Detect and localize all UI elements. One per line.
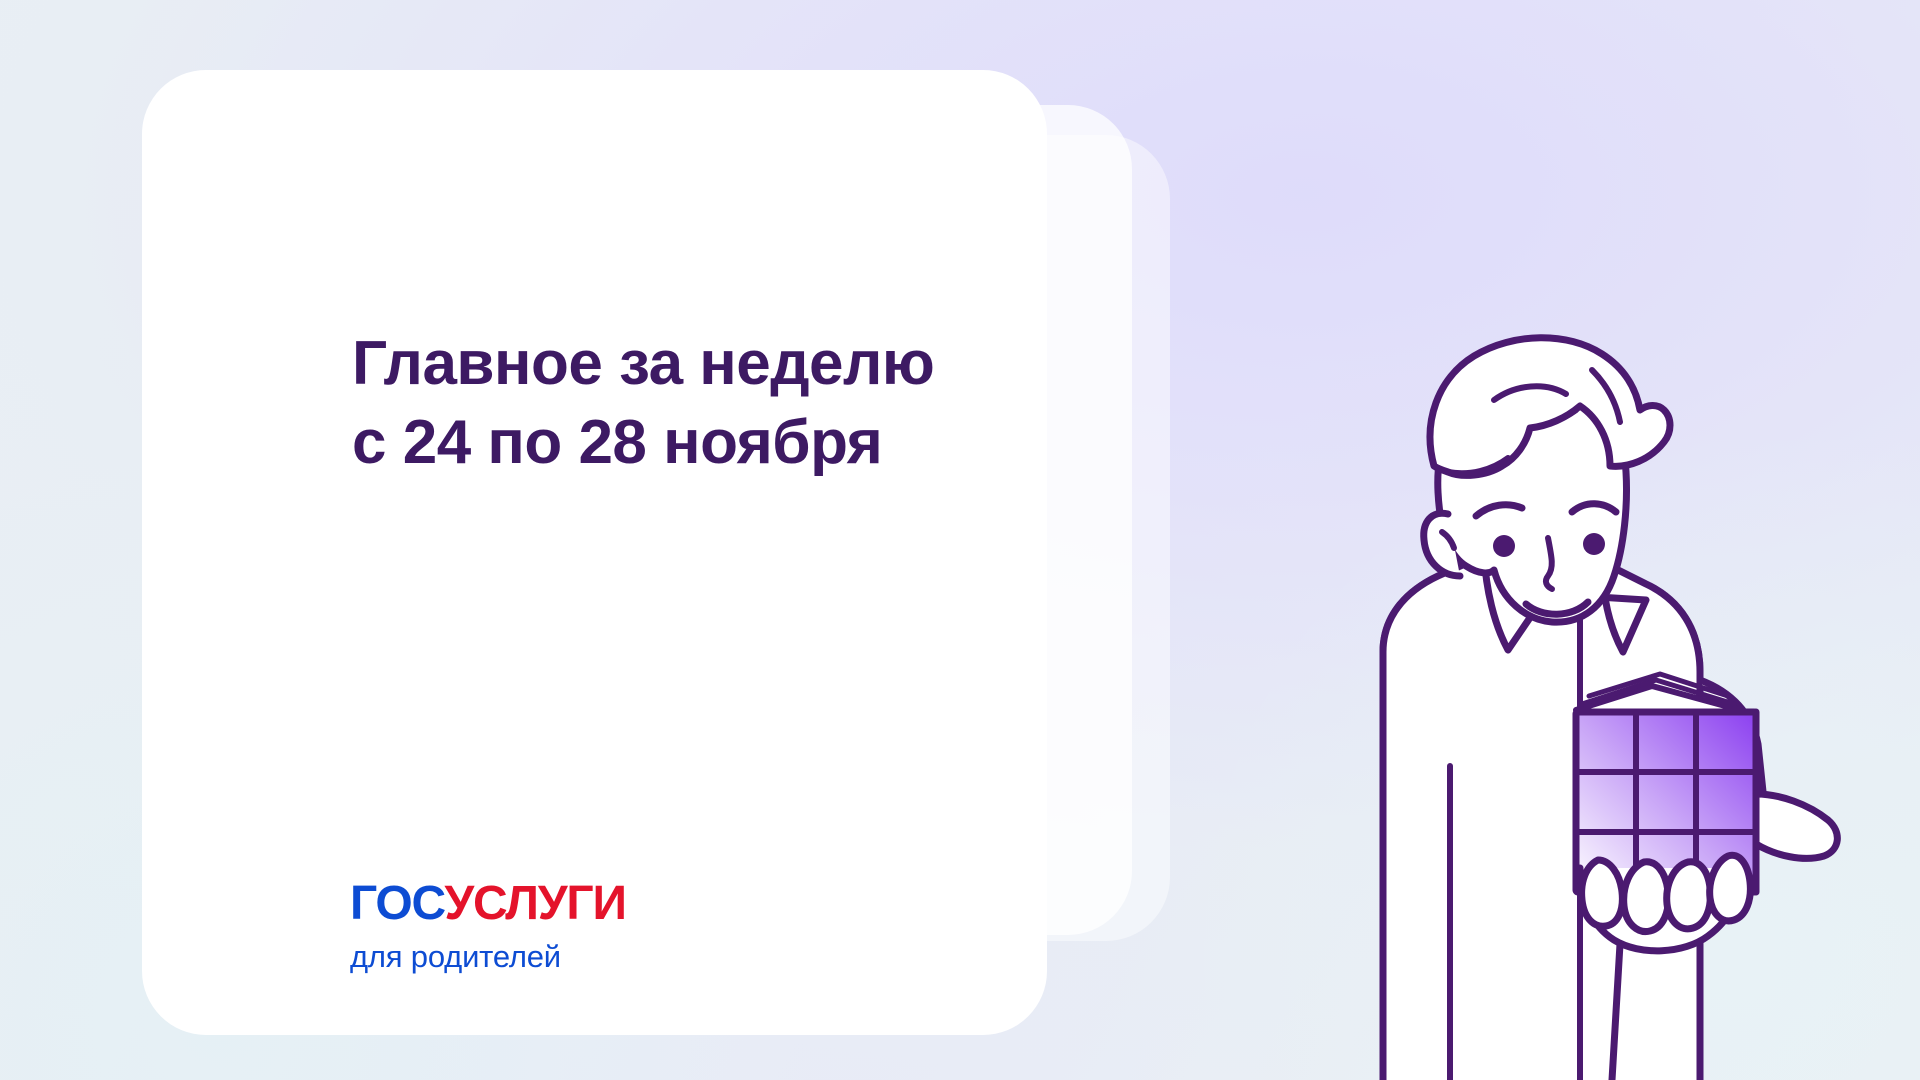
- illustration-young-man-with-cube: [1280, 300, 1920, 1080]
- logo-text-gos: ГОС: [350, 877, 444, 930]
- poster-canvas: Главное за неделю с 24 по 28 ноября ГОСУ…: [0, 0, 1920, 1080]
- shirt-body: [1383, 555, 1700, 1080]
- rubiks-cube: [1576, 674, 1756, 892]
- ear: [1424, 513, 1460, 576]
- background-wash-right: [1170, 440, 1920, 1080]
- eye-left: [1493, 535, 1515, 557]
- neck: [1488, 506, 1595, 558]
- eye-right: [1583, 533, 1605, 555]
- hair: [1430, 338, 1670, 476]
- arm: [1700, 680, 1766, 820]
- logo-wordmark: ГОСУСЛУГИ: [350, 880, 626, 928]
- logo-tagline: для родителей: [350, 941, 626, 972]
- main-card: Главное за неделю с 24 по 28 ноября ГОСУ…: [142, 70, 1047, 1035]
- eyebrows: [1476, 504, 1616, 516]
- logo-text-uslugi: УСЛУГИ: [444, 877, 625, 930]
- eyes: [1493, 533, 1605, 557]
- shirt-collar: [1484, 548, 1646, 652]
- smile: [1526, 602, 1588, 614]
- gosuslugi-logo: ГОСУСЛУГИ для родителей: [350, 880, 626, 972]
- page-title: Главное за неделю с 24 по 28 ноября: [352, 325, 1082, 482]
- nose: [1546, 538, 1552, 589]
- face: [1438, 374, 1627, 622]
- hand: [1580, 794, 1837, 1080]
